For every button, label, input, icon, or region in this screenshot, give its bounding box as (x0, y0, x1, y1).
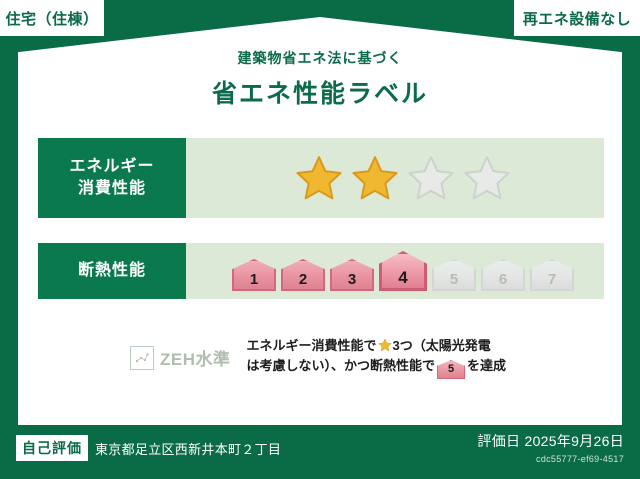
insulation-grade-scale: 1234567 (232, 251, 574, 291)
label-footer: 自己評価 東京都足立区西新井本町２丁目 評価日 2025年9月26日 cdc55… (0, 425, 640, 479)
evaluation-id: cdc55777-ef69-4517 (477, 454, 624, 464)
renewable-equipment-badge: 再エネ設備なし (514, 0, 640, 36)
building-type-badge-label: 住宅（住棟） (5, 8, 98, 29)
insulation-performance-value: 1234567 (186, 243, 604, 299)
insulation-grade-2: 2 (281, 259, 325, 291)
zeh-desc-star-count: 3つ（太陽光発電 (393, 338, 491, 353)
energy-performance-label: 住宅（住棟） 再エネ設備なし 建築物省エネ法に基づく 省エネ性能ラベル エネルギ… (0, 0, 640, 479)
footer-left-group: 自己評価 東京都足立区西新井本町２丁目 (16, 435, 281, 461)
insulation-label: 断熱性能 (78, 260, 146, 282)
zeh-desc-part3: を達成 (467, 358, 506, 373)
star-rating (294, 154, 512, 202)
energy-label-line1: エネルギー (69, 156, 154, 178)
self-evaluation-chip: 自己評価 (16, 435, 88, 461)
star-filled-icon (350, 154, 400, 202)
insulation-grade-7: 7 (530, 259, 574, 291)
insulation-performance-row: 断熱性能 1234567 (38, 243, 604, 299)
energy-performance-row: エネルギー 消費性能 (38, 138, 604, 218)
zeh-desc-part1: エネルギー消費性能で (247, 338, 377, 353)
title-subtitle: 建築物省エネ法に基づく (0, 48, 640, 68)
zeh-standard-block: ZEH水準 エネルギー消費性能で3つ（太陽光発電は考慮しない）、かつ断熱性能で5… (130, 336, 560, 379)
insulation-grade-5: 5 (432, 259, 476, 291)
zeh-desc-part2: は考慮しない）、かつ断熱性能で (247, 358, 436, 373)
energy-label-line2: 消費性能 (78, 178, 146, 200)
zeh-description: エネルギー消費性能で3つ（太陽光発電は考慮しない）、かつ断熱性能で5を達成 (247, 336, 507, 379)
zeh-mark-icon (130, 346, 154, 370)
star-filled-icon (294, 154, 344, 202)
zeh-mark: ZEH水準 (130, 336, 231, 370)
star-empty-icon (406, 154, 456, 202)
insulation-grade-1: 1 (232, 259, 276, 291)
insulation-performance-label-block: 断熱性能 (38, 243, 186, 299)
renewable-equipment-badge-label: 再エネ設備なし (523, 8, 632, 29)
energy-performance-label-block: エネルギー 消費性能 (38, 138, 186, 218)
footer-right-group: 評価日 2025年9月26日 cdc55777-ef69-4517 (477, 431, 624, 464)
page-title: 建築物省エネ法に基づく 省エネ性能ラベル (0, 48, 640, 110)
insulation-grade-4: 4 (379, 251, 427, 291)
property-address: 東京都足立区西新井本町２丁目 (95, 439, 281, 458)
inline-star-icon (378, 338, 392, 352)
evaluation-date: 評価日 2025年9月26日 (477, 431, 624, 451)
inline-grade-badge: 5 (437, 360, 465, 379)
insulation-grade-3: 3 (330, 259, 374, 291)
zeh-mark-label: ZEH水準 (160, 345, 231, 370)
insulation-grade-6: 6 (481, 259, 525, 291)
title-main: 省エネ性能ラベル (0, 74, 640, 110)
building-type-badge: 住宅（住棟） (0, 0, 104, 36)
energy-performance-value (186, 138, 604, 218)
star-empty-icon (462, 154, 512, 202)
